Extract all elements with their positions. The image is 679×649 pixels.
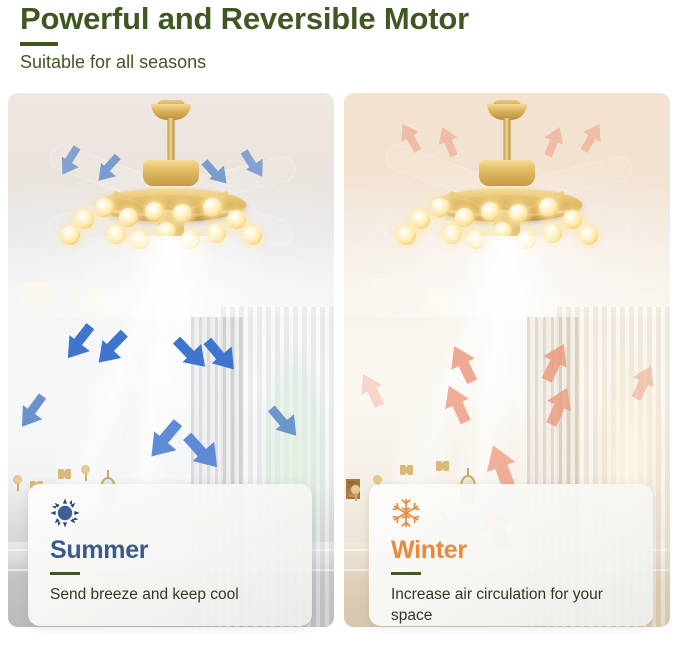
airflow-arrow-up bbox=[544, 383, 586, 429]
crystal-bulb bbox=[227, 210, 246, 229]
crystal-bulb bbox=[563, 210, 582, 229]
crystal-bulb bbox=[157, 222, 176, 241]
card-text-summer: Send breeze and keep cool bbox=[50, 584, 294, 605]
card-heading-summer: Summer bbox=[50, 536, 294, 564]
card-rule-accent bbox=[50, 572, 80, 575]
crystal-bulb bbox=[443, 225, 462, 244]
butterfly-decor bbox=[58, 469, 71, 479]
crystal-bulb bbox=[243, 226, 262, 245]
downlight-glow bbox=[414, 289, 460, 329]
airflow-arrow-down bbox=[96, 329, 138, 373]
airflow-arrow-up bbox=[442, 381, 484, 427]
crystal-bulb bbox=[207, 224, 226, 243]
airflow-arrow-down bbox=[270, 399, 310, 441]
crystal-bulb bbox=[75, 210, 94, 229]
crystal-bulb bbox=[181, 230, 200, 249]
crystal-bulb bbox=[131, 230, 150, 249]
downlight-glow bbox=[14, 281, 60, 321]
airflow-arrow-down bbox=[242, 145, 276, 181]
fan-motor-housing bbox=[479, 160, 535, 186]
crystal-bulb bbox=[411, 210, 430, 229]
airflow-arrow-up bbox=[398, 119, 432, 155]
fan-downrod bbox=[504, 118, 511, 164]
ceiling-fan-summer bbox=[21, 98, 321, 283]
sun-icon bbox=[50, 498, 80, 528]
card-text-winter: Increase air circulation for your space bbox=[391, 584, 635, 626]
crystal-bulb bbox=[397, 226, 416, 245]
crystal-bulb bbox=[455, 208, 474, 227]
airflow-arrow-down bbox=[58, 145, 92, 181]
butterfly-decor bbox=[400, 465, 413, 475]
crystal-bulb bbox=[517, 230, 536, 249]
downlight-glow bbox=[358, 279, 404, 319]
fan-motor-housing bbox=[143, 160, 199, 186]
crystal-bulb bbox=[493, 222, 512, 241]
airflow-arrow-up bbox=[358, 369, 396, 411]
crystal-bulb bbox=[539, 198, 558, 217]
crystal-bulb bbox=[579, 226, 598, 245]
fan-downrod bbox=[168, 118, 175, 164]
airflow-arrow-down bbox=[18, 393, 58, 435]
airflow-arrow-down bbox=[186, 425, 232, 473]
airflow-arrow-down bbox=[204, 153, 238, 189]
crystal-bulb bbox=[119, 208, 138, 227]
crystal-bulb bbox=[543, 224, 562, 243]
wall-sconce bbox=[12, 475, 23, 488]
crystal-bulb bbox=[431, 198, 450, 217]
airflow-arrow-up bbox=[436, 123, 470, 159]
crystal-bulb bbox=[61, 226, 80, 245]
snowflake-icon bbox=[391, 498, 421, 528]
season-card-summer: Summer Send breeze and keep cool bbox=[28, 484, 312, 626]
crystal-bulb bbox=[107, 225, 126, 244]
airflow-arrow-down bbox=[206, 331, 248, 375]
airflow-arrow-down bbox=[96, 153, 130, 189]
crystal-bulb bbox=[95, 198, 114, 217]
season-card-winter: Winter Increase air circulation for your… bbox=[369, 484, 653, 626]
airflow-arrow-up bbox=[630, 361, 668, 403]
airflow-arrow-up bbox=[542, 123, 576, 159]
title-underline-accent bbox=[20, 42, 58, 46]
airflow-arrow-up bbox=[540, 339, 582, 385]
crystal-bulb bbox=[509, 204, 528, 223]
card-heading-winter: Winter bbox=[391, 536, 635, 564]
crystal-bulb bbox=[173, 204, 192, 223]
butterfly-decor bbox=[436, 461, 449, 471]
product-feature-page: Powerful and Reversible Motor Suitable f… bbox=[0, 0, 679, 649]
wall-sconce bbox=[80, 465, 91, 478]
header: Powerful and Reversible Motor Suitable f… bbox=[20, 0, 660, 73]
crystal-bulb bbox=[145, 202, 164, 221]
crystal-bulb bbox=[467, 230, 486, 249]
airflow-arrow-up bbox=[580, 119, 614, 155]
page-subtitle: Suitable for all seasons bbox=[20, 51, 660, 73]
wall-sconce bbox=[350, 485, 361, 498]
card-rule-accent bbox=[391, 572, 421, 575]
page-title: Powerful and Reversible Motor bbox=[20, 0, 660, 38]
crystal-bulb bbox=[203, 198, 222, 217]
crystal-bulb bbox=[481, 202, 500, 221]
